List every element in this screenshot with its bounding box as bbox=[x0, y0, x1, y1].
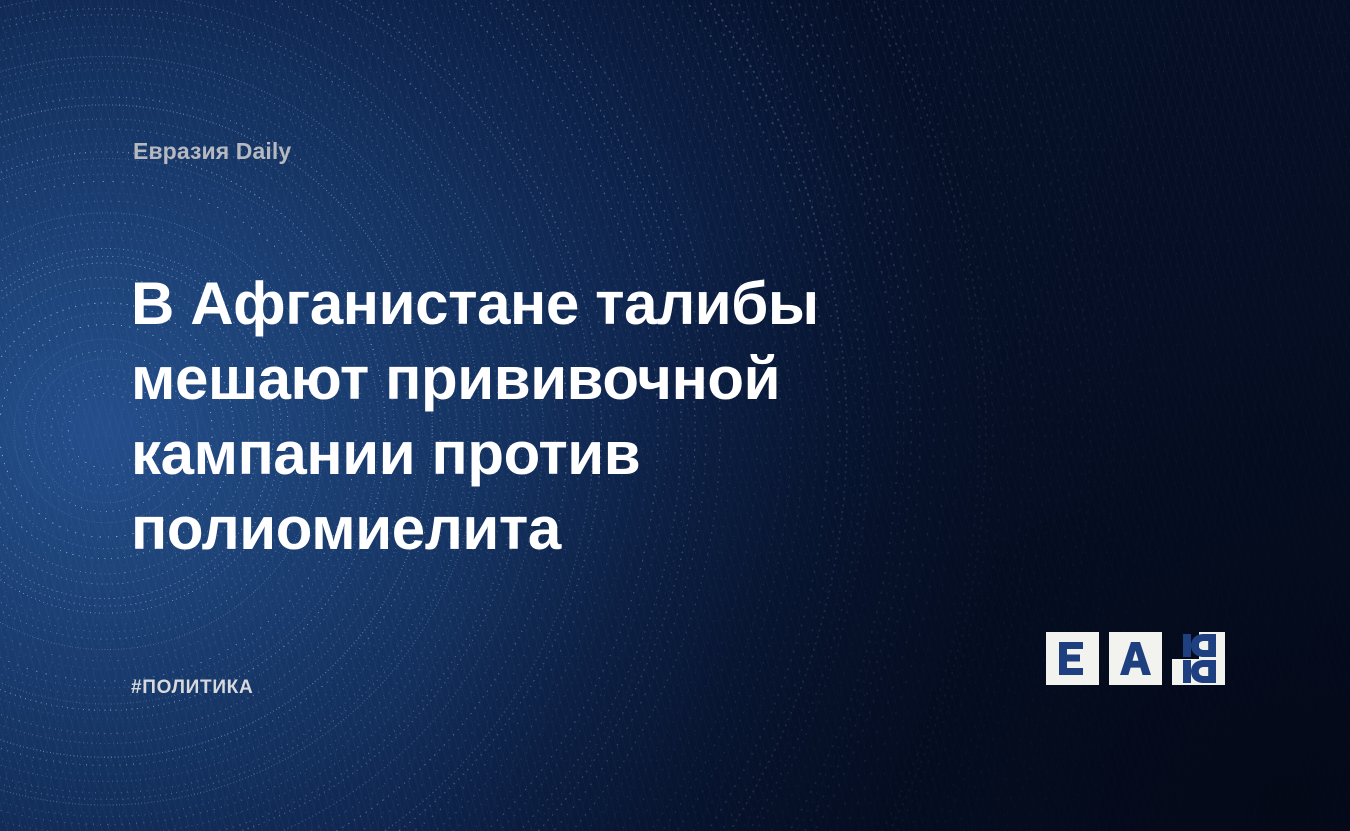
logo-tile-e bbox=[1046, 632, 1099, 685]
logo-tile-a bbox=[1109, 632, 1162, 685]
logo-tile-d bbox=[1172, 632, 1225, 685]
category-tag[interactable]: #ПОЛИТИКА bbox=[131, 677, 253, 699]
letter-a-icon bbox=[1109, 632, 1162, 685]
ead-logo[interactable] bbox=[1046, 632, 1223, 685]
letter-d-icon bbox=[1172, 632, 1225, 685]
site-name: Евразия Daily bbox=[133, 138, 291, 165]
social-share-card: Евразия Daily В Афганистане талибы мешаю… bbox=[0, 0, 1350, 831]
card-content: Евразия Daily В Афганистане талибы мешаю… bbox=[0, 0, 1350, 831]
page-title: В Афганистане талибы мешают прививочной … bbox=[131, 266, 1011, 566]
letter-e-icon bbox=[1046, 632, 1099, 685]
